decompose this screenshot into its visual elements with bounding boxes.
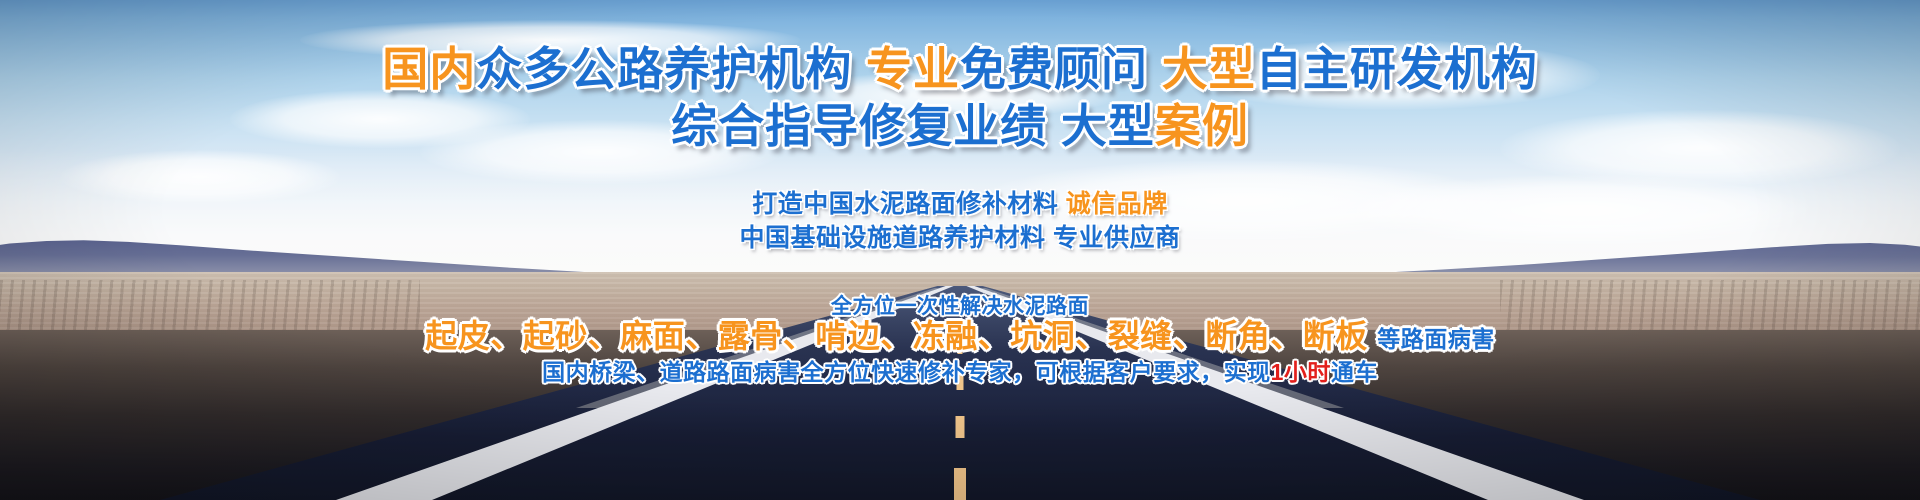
subhead-line-1: 打造中国水泥路面修补材料 诚信品牌 [0, 192, 1920, 217]
text-segment-1 [1058, 190, 1065, 218]
text-segment-7: 自主研发机构 [1256, 43, 1538, 95]
text-segment-0: 打造中国水泥路面修补材料 [752, 190, 1058, 218]
text-segment-1: 1小时 [1271, 359, 1331, 385]
text-segment-2: 诚信品牌 [1066, 190, 1168, 218]
text-segment-4: 免费顾问 [960, 43, 1148, 95]
text-segment-2: 大型 [1061, 100, 1155, 152]
text-segment-0: 国内桥梁、道路路面病害全方位快速修补专家，可根据客户要求，实现 [542, 359, 1271, 385]
text-segment-0: 全方位一次性解决水泥路面 [831, 295, 1089, 318]
text-segment-3: 案例 [1155, 100, 1249, 152]
center-lane-dash [956, 416, 965, 438]
footer-line-2: 起皮、起砂、麻面、露骨、啃边、冻融、坑洞、裂缝、断角、断板 等路面病害 [0, 320, 1920, 352]
text-segment-6: 大型 [1162, 43, 1256, 95]
text-segment-0: 中国基础设施道路养护材料 专业供应商 [740, 224, 1181, 252]
headline-line-2: 综合指导修复业绩 大型案例 [0, 103, 1920, 149]
text-segment-2 [852, 43, 866, 95]
text-segment-3: 专业 [866, 43, 960, 95]
text-segment-0: 国内 [382, 43, 476, 95]
text-segment-2: 通车 [1331, 359, 1378, 385]
text-segment-2: 等路面病害 [1377, 326, 1495, 352]
center-lane-dash [954, 468, 966, 500]
text-segment-1: 众多公路养护机构 [476, 43, 852, 95]
footer-line-1: 全方位一次性解决水泥路面 [0, 296, 1920, 317]
text-segment-0: 起皮、起砂、麻面、露骨、啃边、冻融、坑洞、裂缝、断角、断板 [425, 318, 1368, 354]
text-segment-0: 综合指导修复业绩 [671, 100, 1047, 152]
text-segment-5 [1148, 43, 1162, 95]
text-segment-1 [1047, 100, 1061, 152]
text-segment-1 [1368, 318, 1377, 354]
footer-line-3: 国内桥梁、道路路面病害全方位快速修补专家，可根据客户要求，实现1小时通车 [0, 361, 1920, 384]
promo-banner: 国内众多公路养护机构 专业免费顾问 大型自主研发机构 综合指导修复业绩 大型案例… [0, 0, 1920, 500]
subhead-line-2: 中国基础设施道路养护材料 专业供应商 [0, 226, 1920, 251]
headline-line-1: 国内众多公路养护机构 专业免费顾问 大型自主研发机构 [0, 46, 1920, 92]
